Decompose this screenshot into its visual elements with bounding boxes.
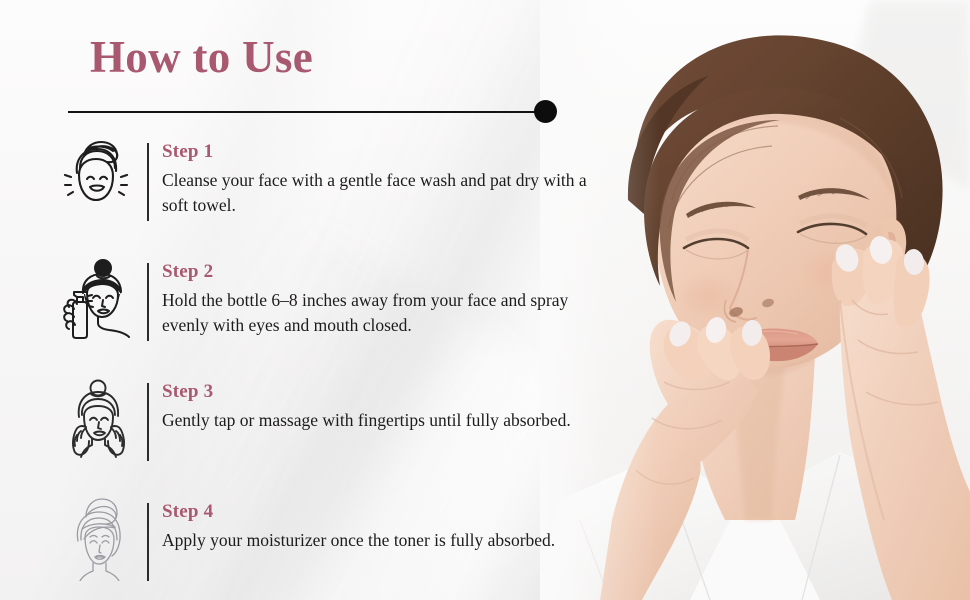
header: How to Use (68, 34, 568, 124)
step-label: Step 4 (162, 501, 555, 523)
step-divider (147, 263, 149, 341)
step-body: Hold the bottle 6–8 inches away from you… (162, 288, 608, 338)
header-rule (68, 100, 568, 124)
step-divider (147, 143, 149, 221)
face-with-hair-towel-wrap-icon (48, 491, 144, 581)
list-item: Step 1 Cleanse your face with a gentle f… (48, 131, 608, 251)
step-body: Apply your moisturizer once the toner is… (162, 528, 555, 553)
step-body: Gently tap or massage with fingertips un… (162, 408, 571, 433)
step-label: Step 2 (162, 261, 608, 283)
step-label: Step 1 (162, 141, 608, 163)
list-item: Step 3 Gently tap or massage with finger… (48, 371, 608, 491)
how-to-use-infographic: How to Use (0, 0, 970, 600)
step-text: Step 4 Apply your moisturizer once the t… (144, 491, 555, 553)
steps-list: Step 1 Cleanse your face with a gentle f… (48, 131, 608, 600)
step-body: Cleanse your face with a gentle face was… (162, 168, 608, 218)
page-title: How to Use (90, 34, 568, 82)
face-massage-with-hands-icon (48, 371, 144, 461)
list-item: Step 2 Hold the bottle 6–8 inches away f… (48, 251, 608, 371)
list-item: Step 4 Apply your moisturizer once the t… (48, 491, 608, 600)
filled-circle-endpoint-icon (534, 100, 557, 123)
step-label: Step 3 (162, 381, 571, 403)
step-divider (147, 383, 149, 461)
step-text: Step 3 Gently tap or massage with finger… (144, 371, 571, 433)
horizontal-rule-icon (68, 111, 548, 114)
step-text: Step 1 Cleanse your face with a gentle f… (144, 131, 608, 218)
step-divider (147, 503, 149, 581)
woman-spraying-toner-bottle-icon (48, 251, 144, 341)
step-text: Step 2 Hold the bottle 6–8 inches away f… (144, 251, 608, 338)
face-with-towel-wrap-smiling-sparkles-icon (48, 131, 144, 221)
